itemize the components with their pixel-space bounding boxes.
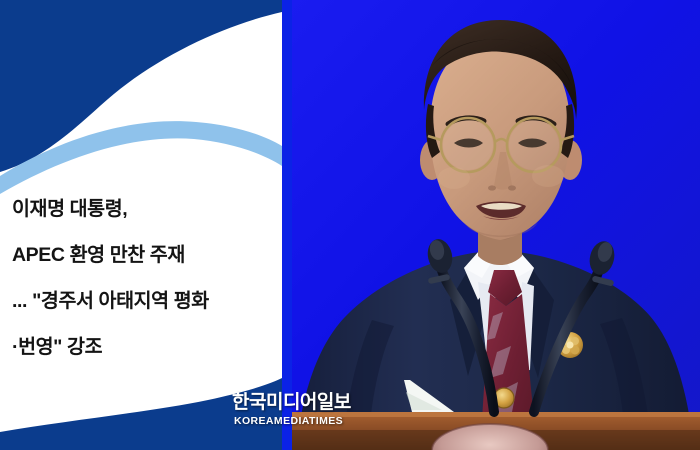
headline-panel: 이재명 대통령, APEC 환영 만찬 주재 ... "경주서 아태지역 평화 … [0, 0, 282, 450]
headline-line-1: 이재명 대통령, [12, 186, 280, 232]
podium [282, 412, 700, 450]
headline-line-4: ·번영" 강조 [12, 324, 280, 370]
photo-illustration [282, 0, 700, 450]
headline: 이재명 대통령, APEC 환영 만찬 주재 ... "경주서 아태지역 평화 … [12, 186, 280, 370]
news-thumbnail-card: 이재명 대통령, APEC 환영 만찬 주재 ... "경주서 아태지역 평화 … [0, 0, 700, 450]
blue-divider-strip [282, 0, 292, 450]
headline-line-2: APEC 환영 만찬 주재 [12, 232, 280, 278]
news-photo [282, 0, 700, 450]
headline-line-3: ... "경주서 아태지역 평화 [12, 278, 280, 324]
